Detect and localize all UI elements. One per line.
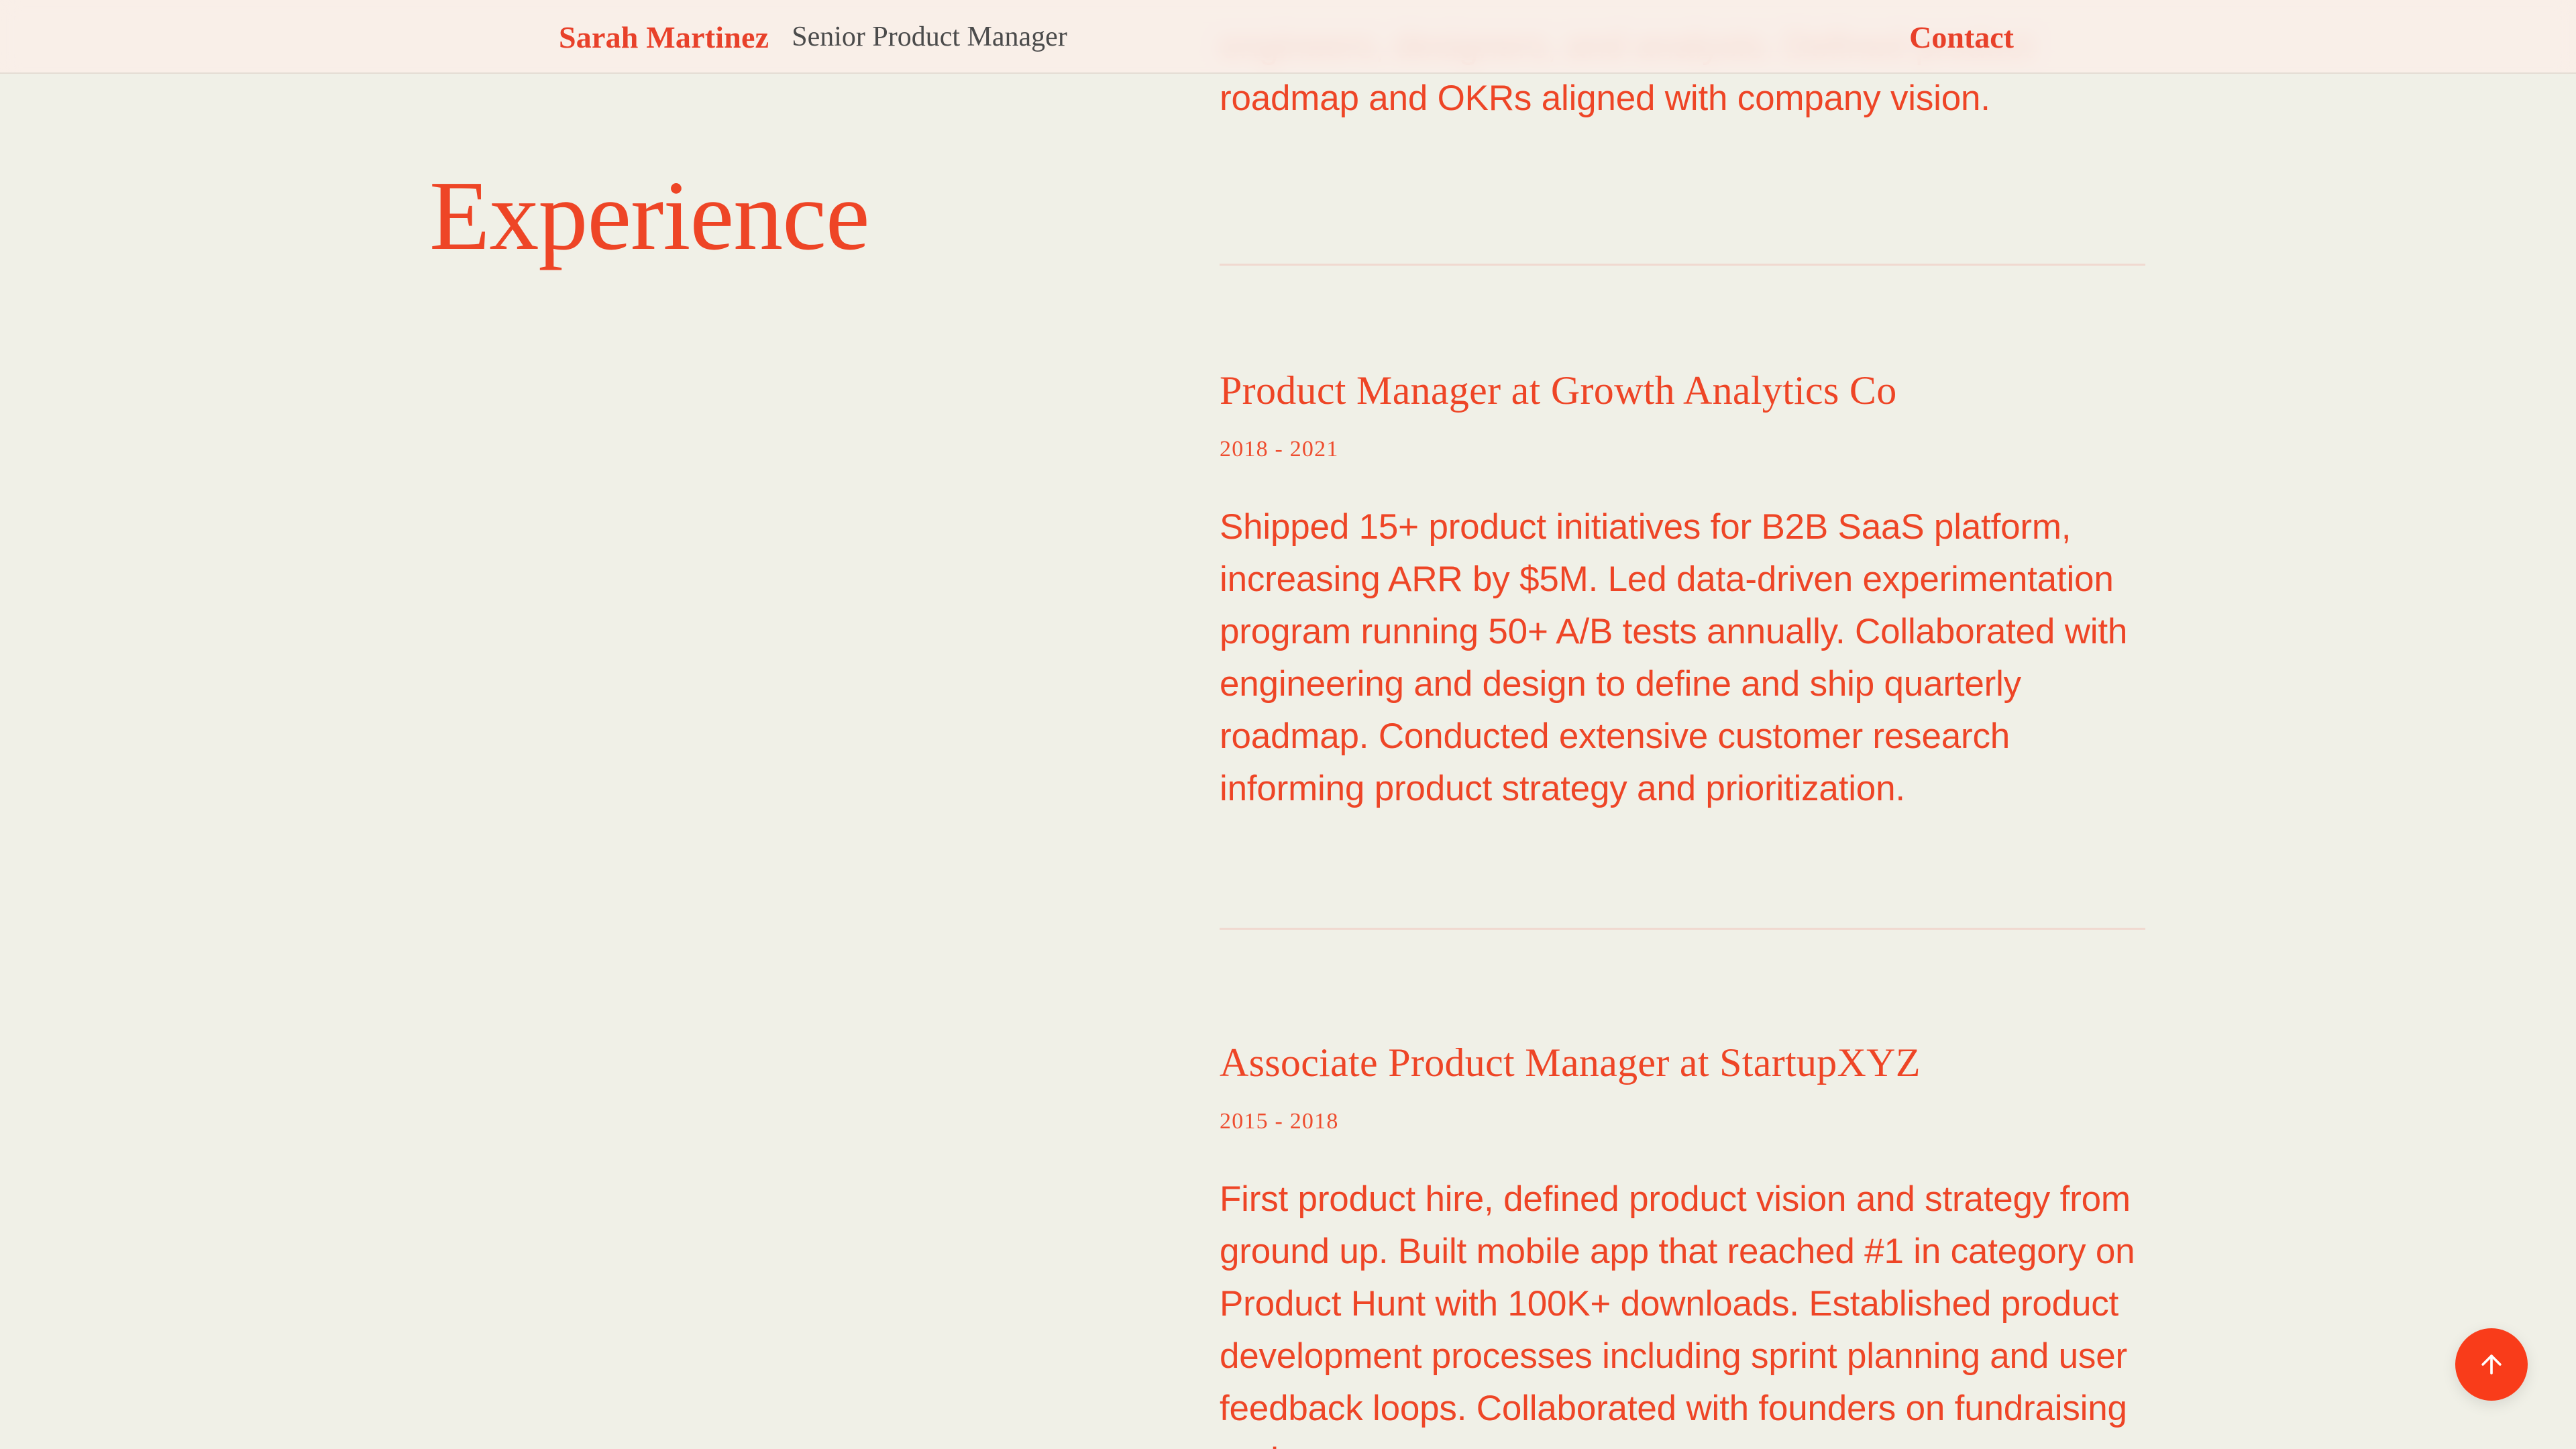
experience-entry-1: Product Manager at Growth Analytics Co 2…	[1220, 369, 2152, 815]
entry-2-job-title: Associate Product Manager at StartupXYZ	[1220, 1041, 2152, 1085]
brand-name[interactable]: Sarah Martinez	[559, 19, 769, 55]
page-title: Experience	[429, 166, 869, 266]
experience-page: engineers, designers, and analysts. Defi…	[0, 0, 2576, 1449]
entry-2-description: First product hire, defined product visi…	[1220, 1173, 2152, 1449]
entry-1-description: Shipped 15+ product initiatives for B2B …	[1220, 501, 2152, 815]
brand-role: Senior Product Manager	[792, 21, 1067, 53]
entry-1-dates: 2018 - 2021	[1220, 438, 2152, 461]
arrow-up-icon	[2477, 1350, 2506, 1379]
entry-divider-1	[1220, 264, 2145, 266]
entry-2-dates: 2015 - 2018	[1220, 1110, 2152, 1133]
page-viewport: engineers, designers, and analysts. Defi…	[0, 0, 2576, 1449]
site-header: Sarah Martinez Senior Product Manager Co…	[0, 0, 2576, 74]
entry-divider-2	[1220, 928, 2145, 930]
scroll-to-top-button[interactable]	[2455, 1328, 2528, 1401]
experience-entry-2: Associate Product Manager at StartupXYZ …	[1220, 1041, 2152, 1449]
entry-1-job-title: Product Manager at Growth Analytics Co	[1220, 369, 2152, 413]
nav-link-contact[interactable]: Contact	[1909, 0, 2014, 74]
brand-group[interactable]: Sarah Martinez Senior Product Manager	[559, 0, 1067, 74]
